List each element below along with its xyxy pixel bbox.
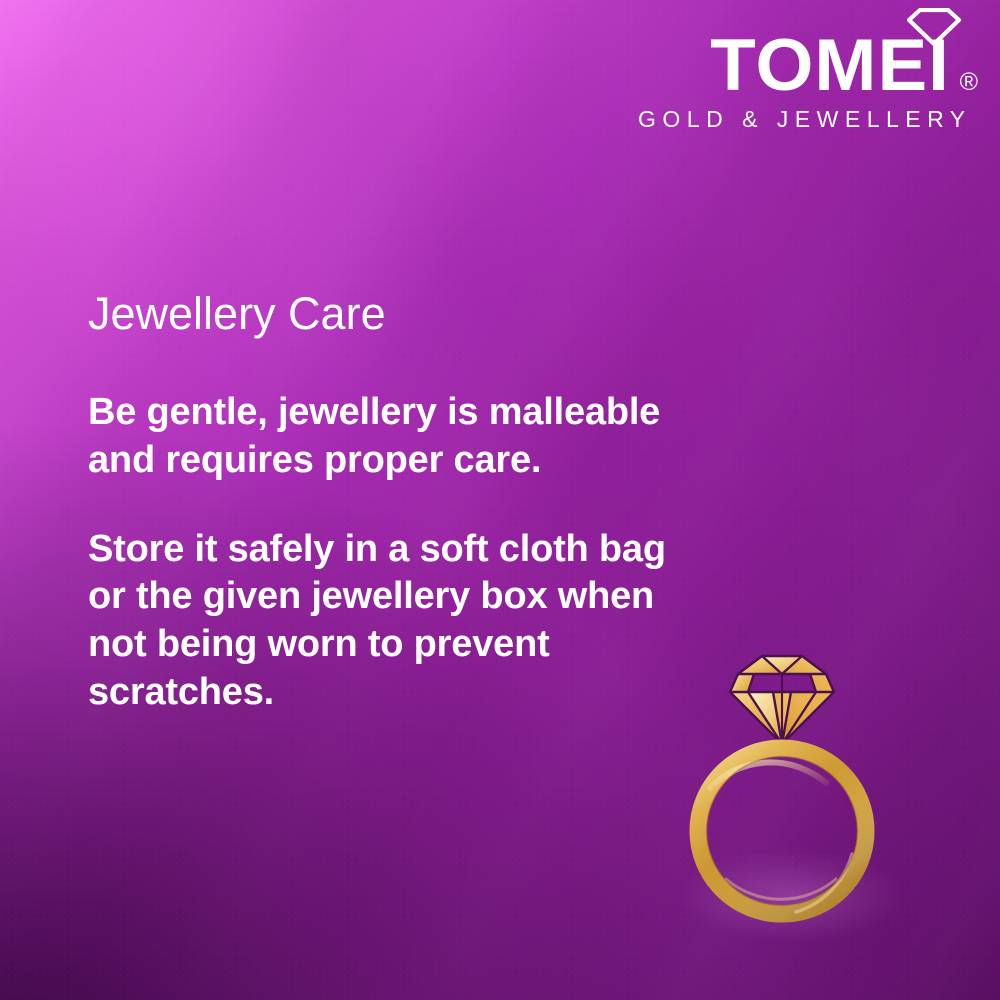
diamond-ring-illustration bbox=[676, 636, 896, 926]
registered-trademark-icon: ® bbox=[960, 70, 978, 99]
brand-wordmark-row: TOMEI ® bbox=[638, 32, 978, 99]
brand-tagline: GOLD & JEWELLERY bbox=[638, 108, 978, 131]
care-paragraph-1: Be gentle, jewellery is malleable and re… bbox=[88, 389, 688, 485]
brand-logo: TOMEI ® GOLD & JEWELLERY bbox=[638, 6, 978, 131]
care-paragraph-2: Store it safely in a soft cloth bag or t… bbox=[88, 526, 688, 718]
page-title: Jewellery Care bbox=[88, 288, 688, 340]
diamond-gem-icon bbox=[730, 656, 834, 744]
brand-wordmark: TOMEI bbox=[710, 32, 950, 99]
content-block: Jewellery Care Be gentle, jewellery is m… bbox=[88, 288, 688, 717]
ring-band-icon bbox=[698, 748, 866, 914]
poster-canvas: TOMEI ® GOLD & JEWELLERY Jewellery Care … bbox=[0, 0, 1000, 1000]
